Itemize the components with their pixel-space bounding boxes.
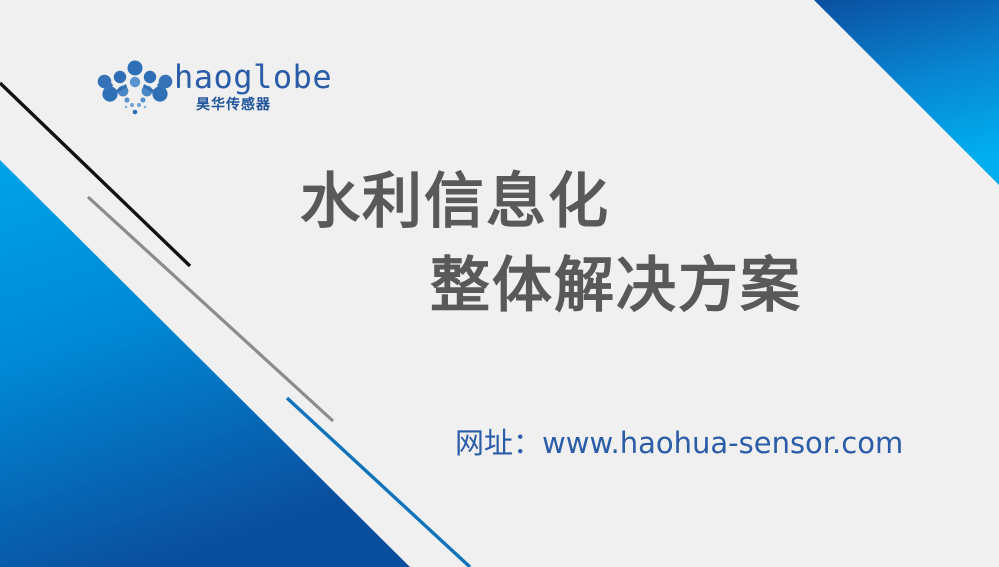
logo-wordmark-text: haoglobe [174,58,332,96]
website-url[interactable]: www.haohua-sensor.com [542,426,903,460]
slide-title-line-1: 水利信息化 [300,160,900,244]
presentation-slide: haoglobe 昊华传感器 水利信息化 整体解决方案 网址：www.haohu… [0,0,999,567]
website-line: 网址：www.haohua-sensor.com [455,420,903,472]
logo-subtext: 昊华传感器 [196,96,271,114]
right-blue-triangle [814,0,999,185]
company-logo[interactable]: haoglobe 昊华传感器 [96,58,326,124]
slide-title: 水利信息化 整体解决方案 [300,160,900,328]
slide-title-line-2: 整体解决方案 [430,244,900,328]
website-label: 网址： [455,426,542,460]
haoglobe-molecule-logo-icon [96,60,174,118]
logo-wordmark: haoglobe 昊华传感器 [174,58,324,124]
